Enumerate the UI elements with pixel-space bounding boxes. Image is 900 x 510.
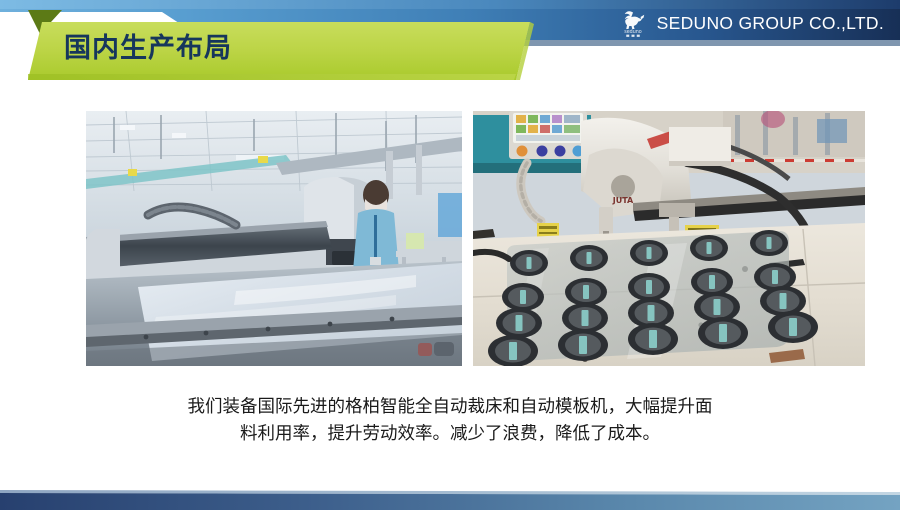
page-title: 国内生产布局: [64, 26, 232, 65]
caption-text-block: 我们装备国际先进的格柏智能全自动裁床和自动模板机，大幅提升面 料利用率，提升劳动…: [110, 394, 790, 448]
pegasus-winged-horse-logo-icon: seduno: [618, 8, 648, 38]
brand-name-text: SEDUNO GROUP CO.,LTD.: [657, 13, 884, 34]
footer-blue-bar: [0, 490, 900, 510]
caption-line-1: 我们装备国际先进的格柏智能全自动裁床和自动模板机，大幅提升面: [110, 394, 790, 421]
brand-lockup: seduno SEDUNO GROUP CO.,LTD.: [618, 6, 884, 40]
caption-line-2: 料利用率，提升劳动效率。减少了浪费，降低了成本。: [110, 421, 790, 448]
photo-auto-cutting-machine: [86, 111, 462, 366]
svg-text:seduno: seduno: [624, 29, 642, 35]
svg-text:JUTA: JUTA: [612, 196, 634, 205]
slide-root: seduno SEDUNO GROUP CO.,LTD.: [0, 0, 900, 510]
photo-auto-template-sewing-machine: JUTA: [473, 111, 865, 366]
